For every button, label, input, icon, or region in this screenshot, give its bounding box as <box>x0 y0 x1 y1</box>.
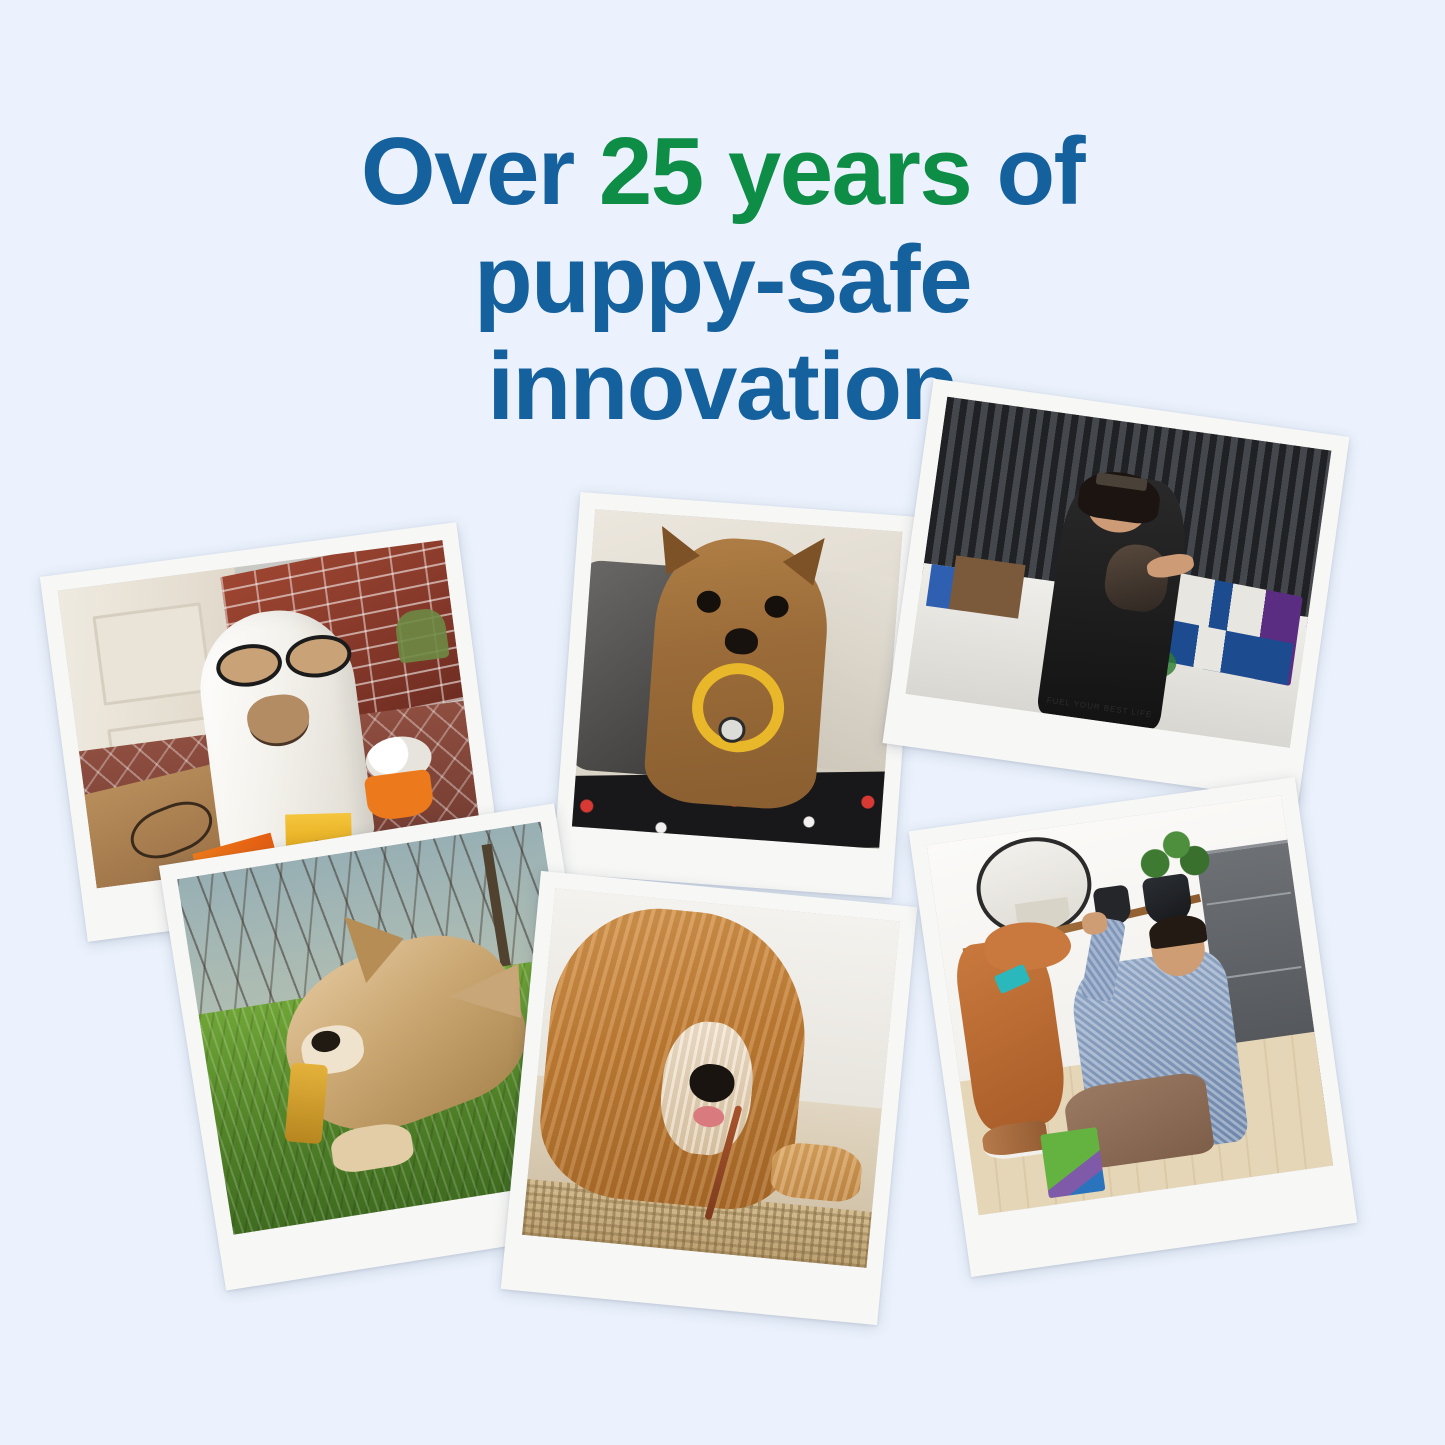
photo-collage: FUEL YOUR BEST LIFE <box>0 0 1445 1445</box>
green-plant <box>1128 825 1213 888</box>
wooden-crate <box>949 555 1026 618</box>
door-panel-upper <box>92 602 211 705</box>
photo-doodle-puppy-chew <box>522 888 900 1268</box>
yellow-chew-treat <box>284 1062 328 1144</box>
photo-booth-woman-puppy: FUEL YOUR BEST LIFE <box>906 397 1332 748</box>
photo-yorkie-ring <box>572 509 902 849</box>
polaroid-man-training-vizsla[interactable] <box>909 777 1358 1277</box>
polaroid-booth-woman-puppy[interactable]: FUEL YOUR BEST LIFE <box>882 379 1349 802</box>
polaroid-yorkie-ring[interactable] <box>552 492 919 898</box>
polaroid-doodle-puppy-chew[interactable] <box>501 871 918 1325</box>
photo-man-training-vizsla <box>927 795 1334 1215</box>
training-treat-pouch <box>1040 1127 1106 1198</box>
